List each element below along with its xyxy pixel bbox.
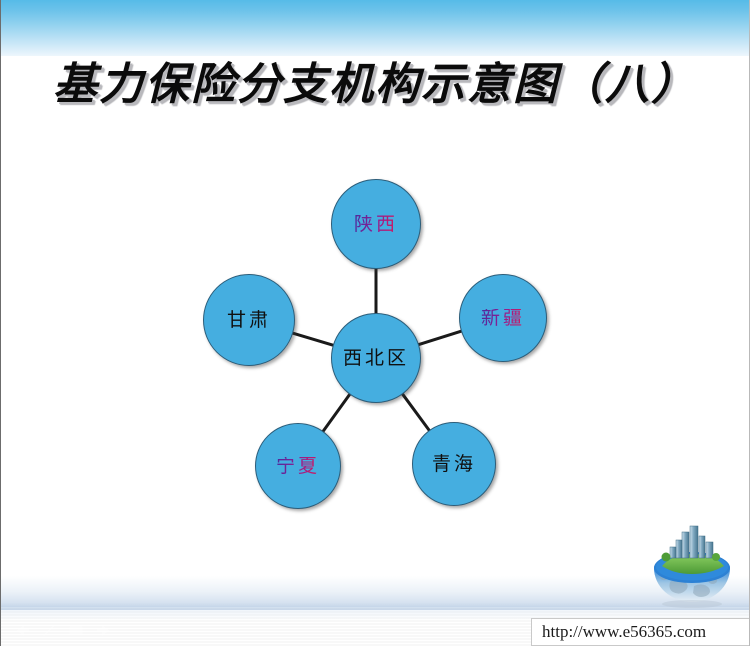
diagram-node-label: 陕西	[354, 215, 398, 234]
diagram-edge	[402, 393, 430, 431]
diagram-node-label: 宁夏	[276, 457, 320, 476]
org-chart-diagram: 西北区陕西甘肃新疆宁夏青海	[0, 0, 750, 646]
diagram-node-label: 西北区	[343, 349, 409, 368]
presentation-slide: 基力保险分支机构示意图（八） 西北区陕西甘肃新疆宁夏青海	[0, 0, 750, 646]
diagram-node-label: 新疆	[481, 309, 525, 328]
website-url-box[interactable]: http://www.e56365.com	[531, 618, 750, 646]
diagram-edge	[323, 394, 351, 432]
diagram-node-ningxia[interactable]: 宁夏	[255, 423, 341, 509]
diagram-node-label: 甘肃	[227, 311, 271, 330]
slideshow-nav-controls[interactable]	[14, 620, 126, 640]
pen-icon[interactable]	[42, 624, 56, 637]
diagram-node-center[interactable]: 西北区	[331, 313, 421, 403]
menu-icon[interactable]	[68, 624, 84, 637]
diagram-node-qinghai[interactable]: 青海	[412, 422, 496, 506]
website-url-text: http://www.e56365.com	[542, 622, 706, 642]
diagram-node-xinjiang[interactable]: 新疆	[459, 274, 547, 362]
diagram-node-label: 青海	[432, 455, 476, 474]
arrow-left-icon[interactable]	[14, 624, 30, 637]
diagram-edge	[418, 331, 462, 345]
globe-city-logo	[646, 524, 738, 610]
diagram-node-shaanxi[interactable]: 陕西	[331, 179, 421, 269]
diagram-edge	[292, 333, 334, 345]
diagram-node-gansu[interactable]: 甘肃	[203, 274, 295, 366]
arrow-right-icon[interactable]	[96, 624, 112, 637]
